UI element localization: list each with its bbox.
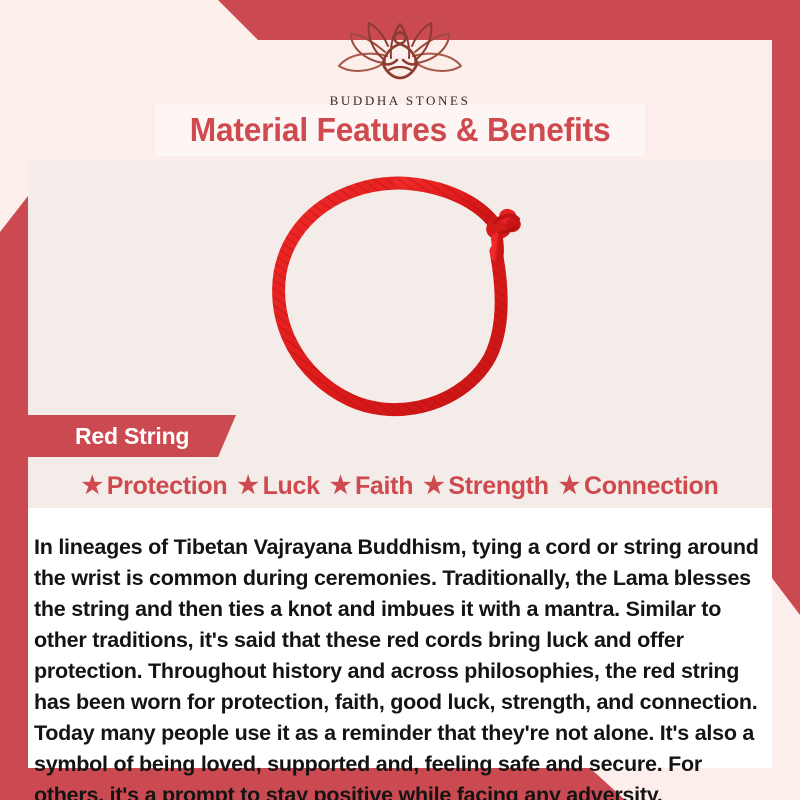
benefit-item-strength: ★ Strength bbox=[418, 472, 554, 501]
decor-left-bar bbox=[0, 196, 28, 800]
red-braided-string-bracelet-icon bbox=[250, 165, 550, 440]
description-paragraph: In lineages of Tibetan Vajrayana Buddhis… bbox=[28, 532, 772, 800]
benefit-label: Faith bbox=[355, 472, 413, 501]
benefit-item-luck: ★ Luck bbox=[232, 472, 324, 501]
star-icon: ★ bbox=[423, 474, 444, 498]
lotus-meditation-figure-icon bbox=[0, 16, 800, 91]
benefit-label: Strength bbox=[448, 472, 548, 501]
benefit-label: Connection bbox=[584, 472, 719, 501]
benefit-item-connection: ★ Connection bbox=[554, 472, 724, 501]
star-icon: ★ bbox=[237, 474, 258, 498]
page-title: Material Features & Benefits bbox=[190, 111, 611, 149]
benefit-label: Protection bbox=[107, 472, 228, 501]
benefits-row: ★ Protection ★ Luck ★ Faith ★ Strength ★… bbox=[28, 466, 772, 506]
brand-logo: BUDDHA STONES bbox=[0, 16, 800, 109]
star-icon: ★ bbox=[559, 474, 580, 498]
star-icon: ★ bbox=[82, 474, 103, 498]
red-string-ribbon: Red String bbox=[28, 415, 236, 457]
benefit-label: Luck bbox=[263, 472, 320, 501]
ribbon-label: Red String bbox=[28, 423, 189, 450]
benefit-item-faith: ★ Faith bbox=[325, 472, 418, 501]
brand-name: BUDDHA STONES bbox=[0, 93, 800, 109]
title-band: Material Features & Benefits bbox=[155, 104, 645, 156]
infographic-page: BUDDHA STONES Material Features & Benefi… bbox=[0, 0, 800, 800]
benefit-item-protection: ★ Protection bbox=[77, 472, 233, 501]
star-icon: ★ bbox=[330, 474, 351, 498]
